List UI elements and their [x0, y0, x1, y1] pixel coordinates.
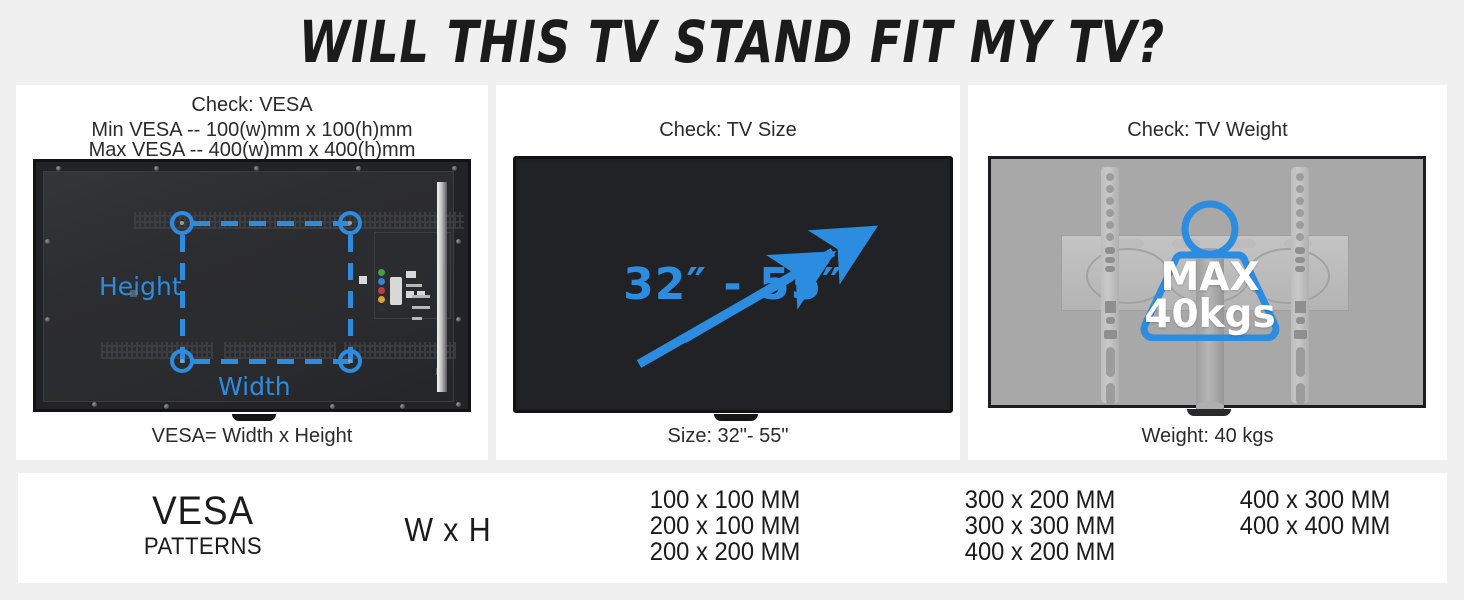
rail-hardware [1105, 247, 1115, 254]
weight-badge-line-2: 40kgs [1119, 294, 1301, 336]
vesa-mount-point-bottom-left [170, 349, 194, 373]
vesa-pattern-item: 100 x 100 MM [606, 487, 844, 513]
mount-bracket-illustration: MAX 40kgs [988, 156, 1426, 408]
vesa-pattern-item: 400 x 400 MM [1196, 513, 1434, 539]
rail-hole [1106, 209, 1114, 217]
panel-vesa-min-line: Min VESA -- 100(w)mm x 100(h)mm [16, 119, 488, 141]
vesa-mount-point-top-right [338, 211, 362, 235]
panel-vesa-caption: VESA= Width x Height [16, 425, 488, 448]
panel-size-caption: Size: 32"- 55" [496, 425, 960, 448]
tv-stand-nub [714, 414, 758, 421]
rail-hole [1106, 233, 1114, 241]
rail-hole [1106, 221, 1114, 229]
rail-hardware [1105, 257, 1115, 263]
vesa-dash-right [348, 235, 353, 363]
panel-size-heading: Check: TV Size [496, 118, 960, 142]
rail-hardware [1105, 301, 1116, 313]
rail-hole [1296, 185, 1304, 193]
vesa-pattern-item: 400 x 200 MM [921, 539, 1159, 565]
vesa-formula-label: W x H [356, 511, 540, 549]
vesa-patterns-title: VESA PATTERNS [78, 489, 328, 561]
rail-hole [1106, 173, 1114, 181]
vesa-patterns-title-sub: PATTERNS [88, 533, 318, 561]
tv-front-illustration: 32″ - 55″ [513, 156, 953, 413]
vesa-pattern-item: 300 x 200 MM [921, 487, 1159, 513]
vesa-height-label: Height [99, 272, 182, 301]
check-panels: Check: VESA Min VESA -- 100(w)mm x 100(h… [0, 85, 1464, 460]
infographic-page: WILL THIS TV STAND FIT MY TV? Check: VES… [0, 0, 1464, 600]
vesa-patterns-panel: VESA PATTERNS W x H 100 x 100 MM 200 x 1… [18, 473, 1447, 583]
vesa-mount-point-bottom-right [338, 349, 362, 373]
vesa-measure-overlay: Height Width [33, 159, 471, 412]
rail-hardware [1105, 266, 1115, 272]
vesa-patterns-column-1: 100 x 100 MM 200 x 100 MM 200 x 200 MM [606, 487, 844, 565]
vesa-patterns-column-3: 400 x 300 MM 400 x 400 MM [1196, 487, 1434, 539]
max-weight-badge: MAX 40kgs [1119, 199, 1301, 341]
rail-slot [1296, 347, 1305, 377]
panel-check-tv-size: Check: TV Size 32″ - 55″ Size: 32"- 55" [496, 85, 960, 460]
tv-stand-nub [232, 414, 276, 421]
vesa-patterns-title-main: VESA [88, 489, 318, 533]
vesa-patterns-column-2: 300 x 200 MM 300 x 300 MM 400 x 200 MM [921, 487, 1159, 565]
panel-vesa-max-line: Max VESA -- 400(w)mm x 400(h)mm [16, 139, 488, 161]
rail-hardware [1106, 317, 1115, 324]
vesa-pattern-item: 200 x 200 MM [606, 539, 844, 565]
mount-rail-left [1101, 167, 1119, 403]
rail-hardware [1104, 330, 1117, 339]
panel-check-tv-weight: Check: TV Weight [968, 85, 1447, 460]
tv-size-range-label: 32″ - 55″ [516, 259, 950, 310]
panel-vesa-heading: Check: VESA [16, 93, 488, 117]
mount-base-nub [1187, 409, 1231, 416]
vesa-dash-top [193, 221, 351, 226]
vesa-mount-point-top-left [170, 211, 194, 235]
rail-slot [1106, 347, 1115, 377]
panel-weight-caption: Weight: 40 kgs [968, 425, 1447, 448]
vesa-pattern-item: 200 x 100 MM [606, 513, 844, 539]
vesa-dash-bottom [193, 359, 351, 364]
rail-hole [1106, 197, 1114, 205]
rail-slot [1296, 383, 1305, 405]
rail-slot [1106, 383, 1115, 405]
vesa-width-label: Width [218, 372, 291, 401]
page-title: WILL THIS TV STAND FIT MY TV? [146, 6, 1317, 78]
panel-check-vesa: Check: VESA Min VESA -- 100(w)mm x 100(h… [16, 85, 488, 460]
rail-hole [1296, 173, 1304, 181]
vesa-pattern-item: 400 x 300 MM [1196, 487, 1434, 513]
rail-hole [1106, 185, 1114, 193]
vesa-pattern-item: 300 x 300 MM [921, 513, 1159, 539]
panel-weight-heading: Check: TV Weight [968, 118, 1447, 142]
